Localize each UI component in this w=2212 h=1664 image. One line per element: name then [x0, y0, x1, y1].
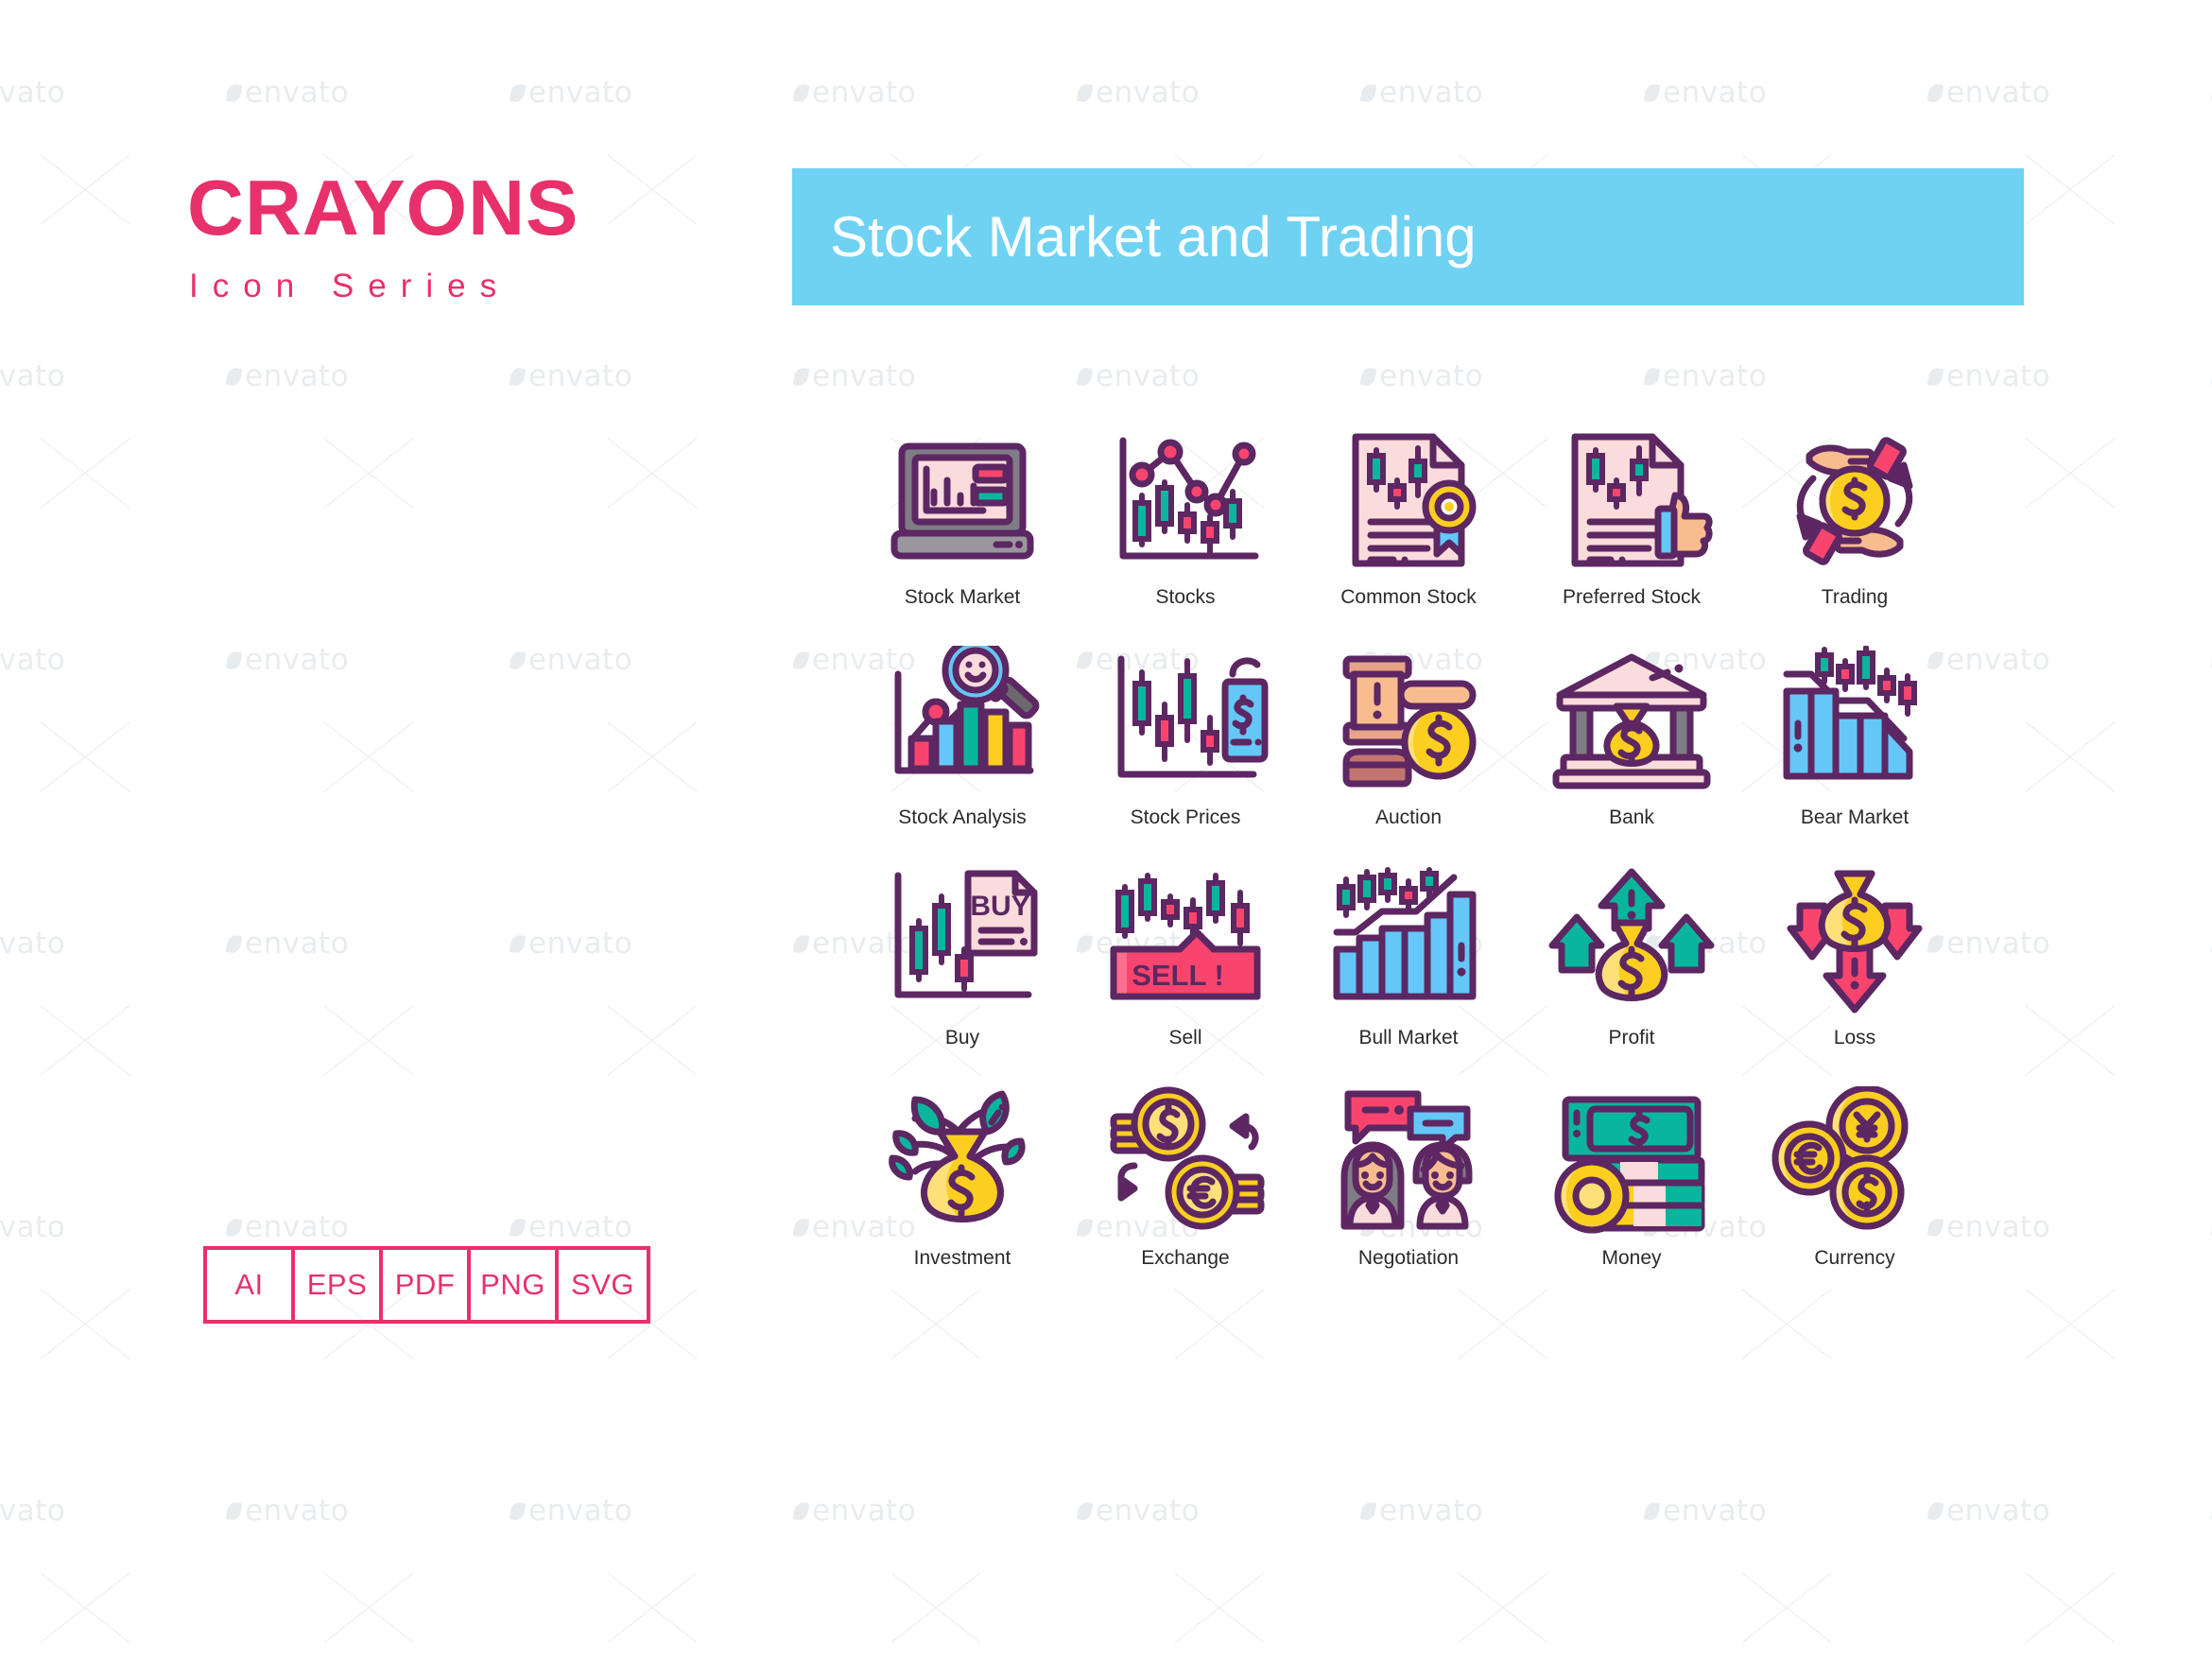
watermark-cross — [2013, 1267, 2127, 1380]
watermark-text: envato — [1928, 359, 2050, 393]
icon-cell-bank[interactable]: Bank — [1520, 646, 1743, 866]
icon-label: Bank — [1609, 806, 1654, 829]
watermark-cross — [2013, 700, 2127, 813]
envato-leaf-icon — [793, 650, 809, 670]
icon-cell-trading[interactable]: Trading — [1743, 425, 1966, 646]
preferred-stock-icon — [1547, 425, 1717, 577]
envato-leaf-icon — [226, 1501, 242, 1521]
icon-cell-investment[interactable]: Investment — [851, 1086, 1074, 1307]
envato-leaf-icon — [1077, 1501, 1093, 1521]
icon-label: Trading — [1822, 586, 1888, 609]
watermark-cross — [312, 1551, 425, 1664]
icon-label: Negotiation — [1358, 1247, 1459, 1270]
envato-leaf-icon — [793, 1218, 809, 1238]
icon-label: Investment — [914, 1247, 1011, 1270]
trading-icon — [1770, 425, 1940, 577]
icon-label: Sell — [1168, 1027, 1201, 1049]
bull-market-icon — [1323, 866, 1494, 1017]
buy-note-text: BUY — [970, 891, 1029, 922]
icon-label: Profit — [1608, 1027, 1654, 1049]
stocks-icon — [1100, 425, 1270, 577]
watermark-cross — [596, 1551, 709, 1664]
watermark-text: envato — [1645, 359, 1767, 393]
icon-cell-buy[interactable]: BUY Buy — [851, 866, 1074, 1086]
watermark-text: envato — [1078, 1494, 1200, 1528]
icon-cell-exchange[interactable]: Exchange — [1074, 1086, 1297, 1307]
icon-label: Stocks — [1155, 586, 1215, 609]
stock-analysis-icon — [877, 646, 1047, 797]
envato-leaf-icon — [1360, 367, 1376, 387]
format-badge-svg[interactable]: SVG — [559, 1250, 647, 1320]
icon-label: Stock Market — [905, 586, 1021, 609]
watermark-cross — [1730, 1551, 1843, 1664]
currency-icon — [1770, 1086, 1940, 1238]
watermark-cross — [1446, 1551, 1560, 1664]
brand-subtitle: Icon Series — [189, 268, 510, 305]
icon-cell-bull-market[interactable]: Bull Market — [1297, 866, 1520, 1086]
bank-icon — [1547, 646, 1717, 797]
icon-label: Stock Analysis — [898, 806, 1026, 829]
brand-panel: CRAYONS Icon Series AI EPS PDF PNG SVG — [0, 0, 785, 1475]
watermark-text: envato — [1645, 1494, 1767, 1528]
envato-leaf-icon — [793, 367, 809, 387]
icon-label: Loss — [1834, 1027, 1875, 1049]
icon-cell-auction[interactable]: Auction — [1297, 646, 1520, 866]
format-badge-eps[interactable]: EPS — [295, 1250, 383, 1320]
common-stock-icon — [1323, 425, 1494, 577]
icon-label: Buy — [945, 1027, 979, 1049]
watermark-cross — [2013, 132, 2127, 246]
envato-leaf-icon — [1644, 83, 1660, 103]
stock-prices-icon — [1100, 646, 1270, 797]
watermark-text: envato — [1361, 1494, 1483, 1528]
brand-title: CRAYONS — [187, 168, 579, 247]
envato-leaf-icon — [1927, 1501, 1944, 1521]
sell-icon: SELL ! — [1100, 866, 1270, 1017]
icon-cell-stock-prices[interactable]: Stock Prices — [1074, 646, 1297, 866]
watermark-text: envato — [1078, 359, 1200, 393]
format-badge-png[interactable]: PNG — [471, 1250, 559, 1320]
investment-icon — [877, 1086, 1047, 1238]
buy-icon: BUY — [877, 866, 1047, 1017]
icon-cell-stock-market[interactable]: Stock Market — [851, 425, 1074, 646]
stock-market-icon — [877, 425, 1047, 577]
profit-icon — [1547, 866, 1717, 1017]
icon-cell-preferred-stock[interactable]: Preferred Stock — [1520, 425, 1743, 646]
watermark-text: envato — [0, 1494, 65, 1528]
watermark-text: envato — [1928, 1494, 2050, 1528]
envato-leaf-icon — [1360, 1501, 1376, 1521]
watermark-text: envato — [794, 359, 916, 393]
watermark-text: envato — [1928, 76, 2050, 110]
envato-leaf-icon — [510, 1501, 526, 1521]
loss-icon — [1770, 866, 1940, 1017]
watermark-text: envato — [1645, 76, 1767, 110]
envato-leaf-icon — [793, 934, 809, 954]
icon-label: Bear Market — [1801, 806, 1909, 829]
envato-leaf-icon — [793, 83, 809, 103]
format-badge-group: AI EPS PDF PNG SVG — [203, 1246, 650, 1324]
watermark-cross — [28, 1551, 142, 1664]
format-badge-pdf[interactable]: PDF — [383, 1250, 471, 1320]
icon-grid: Stock Market Stocks — [851, 425, 2023, 1307]
icon-cell-currency[interactable]: Currency — [1743, 1086, 1966, 1307]
watermark-text: envato — [227, 1494, 349, 1528]
watermark-text: envato — [794, 76, 916, 110]
envato-leaf-icon — [1927, 83, 1944, 103]
watermark-text: envato — [510, 1494, 632, 1528]
icon-cell-bear-market[interactable]: Bear Market — [1743, 646, 1966, 866]
category-header-banner: Stock Market and Trading — [792, 168, 2024, 305]
icon-cell-stock-analysis[interactable]: Stock Analysis — [851, 646, 1074, 866]
envato-leaf-icon — [1360, 83, 1376, 103]
watermark-text: envato — [1361, 359, 1483, 393]
watermark-text: envato — [1078, 76, 1200, 110]
bear-market-icon — [1770, 646, 1940, 797]
icon-cell-money[interactable]: Money — [1520, 1086, 1743, 1307]
icon-label: Exchange — [1141, 1247, 1229, 1270]
icon-label: Currency — [1814, 1247, 1894, 1270]
format-badge-ai[interactable]: AI — [207, 1250, 295, 1320]
icon-cell-loss[interactable]: Loss — [1743, 866, 1966, 1086]
watermark-cross — [879, 1551, 993, 1664]
watermark-text: envato — [794, 1494, 916, 1528]
icon-cell-common-stock[interactable]: Common Stock — [1297, 425, 1520, 646]
watermark-cross — [2013, 983, 2127, 1097]
negotiation-icon — [1323, 1086, 1494, 1238]
envato-leaf-icon — [1077, 83, 1093, 103]
icon-cell-profit[interactable]: Profit — [1520, 866, 1743, 1086]
watermark-text: envato — [1361, 76, 1483, 110]
envato-leaf-icon — [1077, 367, 1093, 387]
envato-leaf-icon — [1927, 367, 1944, 387]
exchange-icon — [1100, 1086, 1270, 1238]
icon-cell-negotiation[interactable]: Negotiation — [1297, 1086, 1520, 1307]
watermark-cross — [2013, 1551, 2127, 1664]
icon-label: Auction — [1375, 806, 1442, 829]
envato-leaf-icon — [793, 1501, 809, 1521]
sell-sign-text: SELL ! — [1132, 959, 1224, 992]
icon-cell-sell[interactable]: SELL ! Sell — [1074, 866, 1297, 1086]
icon-label: Money — [1601, 1247, 1661, 1270]
icon-cell-stocks[interactable]: Stocks — [1074, 425, 1297, 646]
envato-leaf-icon — [1644, 367, 1660, 387]
watermark-cross — [2013, 416, 2127, 529]
icon-label: Common Stock — [1340, 586, 1477, 609]
money-icon — [1547, 1086, 1717, 1238]
icon-label: Bull Market — [1358, 1027, 1458, 1049]
watermark-cross — [1163, 1551, 1276, 1664]
envato-leaf-icon — [1644, 1501, 1660, 1521]
icon-label: Preferred Stock — [1563, 586, 1701, 609]
page-title: Stock Market and Trading — [830, 204, 1477, 269]
auction-icon — [1323, 646, 1494, 797]
icon-label: Stock Prices — [1131, 806, 1241, 829]
